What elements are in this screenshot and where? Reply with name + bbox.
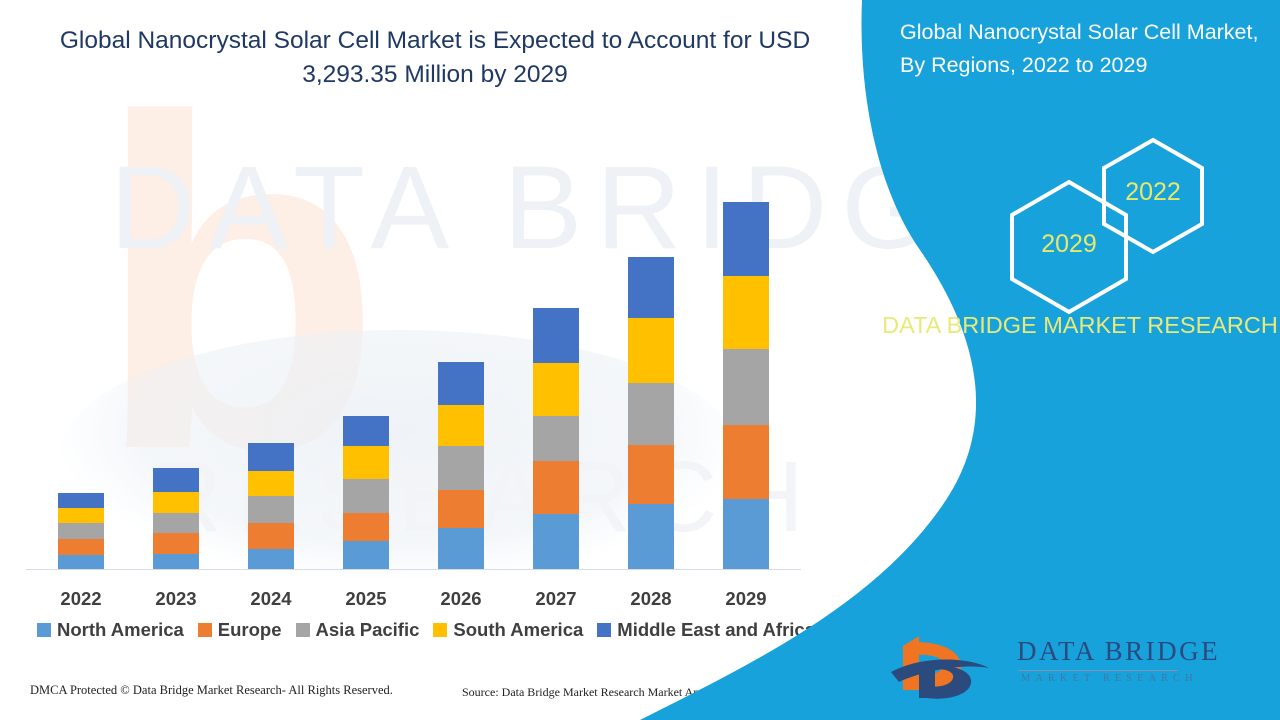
bar-segment-2023-middle-east-and-africa[interactable] (153, 468, 199, 492)
bar-segment-2028-south-america[interactable] (628, 318, 674, 383)
bar-segment-2027-asia-pacific[interactable] (533, 416, 579, 461)
bar-segment-2023-north-america[interactable] (153, 554, 199, 570)
bar-2029[interactable] (723, 202, 769, 570)
x-axis-label-2023: 2023 (131, 588, 221, 610)
footer-source-text: Source: Data Bridge Market Research Mark… (462, 685, 785, 700)
bar-segment-2029-europe[interactable] (723, 425, 769, 499)
chart-legend: North AmericaEuropeAsia PacificSouth Ame… (26, 617, 826, 643)
legend-item-europe[interactable]: Europe (198, 619, 282, 641)
plot-area (26, 150, 806, 570)
legend-label: North America (57, 619, 184, 641)
bar-segment-2026-middle-east-and-africa[interactable] (438, 362, 484, 405)
bar-segment-2028-middle-east-and-africa[interactable] (628, 257, 674, 318)
legend-swatch-icon (296, 623, 310, 637)
bar-segment-2025-europe[interactable] (343, 513, 389, 541)
bar-segment-2025-north-america[interactable] (343, 541, 389, 570)
bar-segment-2027-europe[interactable] (533, 461, 579, 514)
bar-segment-2022-asia-pacific[interactable] (58, 523, 104, 539)
bar-segment-2025-south-america[interactable] (343, 446, 389, 479)
bar-segment-2023-europe[interactable] (153, 533, 199, 554)
bar-segment-2028-europe[interactable] (628, 445, 674, 504)
bar-2022[interactable] (58, 493, 104, 570)
bar-2026[interactable] (438, 362, 484, 570)
side-panel-title: Global Nanocrystal Solar Cell Market, By… (900, 16, 1270, 82)
logo-divider (1018, 670, 1178, 671)
bar-segment-2024-middle-east-and-africa[interactable] (248, 443, 294, 471)
bar-segment-2028-asia-pacific[interactable] (628, 383, 674, 445)
legend-item-south-america[interactable]: South America (433, 619, 583, 641)
logo-tagline: MARKET RESEARCH (1021, 673, 1198, 684)
bar-segment-2022-middle-east-and-africa[interactable] (58, 493, 104, 508)
bar-segment-2024-south-america[interactable] (248, 471, 294, 496)
bar-segment-2024-europe[interactable] (248, 523, 294, 549)
bar-2025[interactable] (343, 416, 389, 570)
data-bridge-logo: DATA BRIDGE MARKET RESEARCH (885, 628, 1275, 706)
bar-segment-2026-asia-pacific[interactable] (438, 446, 484, 490)
legend-item-asia-pacific[interactable]: Asia Pacific (296, 619, 420, 641)
legend-label: Middle East and Africa (617, 619, 815, 641)
bar-2024[interactable] (248, 443, 294, 570)
brand-panel-content: Global Nanocrystal Solar Cell Market, By… (880, 0, 1280, 720)
x-axis-label-2025: 2025 (321, 588, 411, 610)
footer-dmca-text: DMCA Protected © Data Bridge Market Rese… (30, 683, 393, 698)
legend-swatch-icon (198, 623, 212, 637)
bar-segment-2029-north-america[interactable] (723, 499, 769, 570)
x-axis-label-2027: 2027 (511, 588, 601, 610)
bar-segment-2024-north-america[interactable] (248, 549, 294, 570)
x-axis-label-2028: 2028 (606, 588, 696, 610)
bar-segment-2025-middle-east-and-africa[interactable] (343, 416, 389, 446)
bar-segment-2029-asia-pacific[interactable] (723, 349, 769, 425)
bar-segment-2026-north-america[interactable] (438, 528, 484, 570)
brand-name: DATA BRIDGE MARKET RESEARCH (880, 308, 1280, 343)
bar-segment-2022-north-america[interactable] (58, 555, 104, 570)
hex-badge-2029-label: 2029 (1005, 230, 1133, 259)
x-axis-labels: 20222023202420252026202720282029 (26, 588, 806, 616)
legend-item-middle-east-and-africa[interactable]: Middle East and Africa (597, 619, 815, 641)
bar-segment-2025-asia-pacific[interactable] (343, 479, 389, 513)
legend-label: South America (453, 619, 583, 641)
x-axis-label-2026: 2026 (416, 588, 506, 610)
bar-segment-2023-south-america[interactable] (153, 492, 199, 513)
bar-segment-2024-asia-pacific[interactable] (248, 496, 294, 523)
bar-segment-2022-europe[interactable] (58, 539, 104, 555)
logo-mark-icon (885, 628, 1005, 700)
legend-label: Europe (218, 619, 282, 641)
bar-2028[interactable] (628, 257, 674, 570)
bar-segment-2023-asia-pacific[interactable] (153, 513, 199, 533)
bar-segment-2027-north-america[interactable] (533, 514, 579, 570)
bar-segment-2022-south-america[interactable] (58, 508, 104, 523)
bar-segment-2026-europe[interactable] (438, 490, 484, 528)
legend-swatch-icon (597, 623, 611, 637)
logo-wordmark: DATA BRIDGE (1017, 636, 1220, 667)
legend-swatch-icon (433, 623, 447, 637)
bar-segment-2026-south-america[interactable] (438, 405, 484, 446)
legend-swatch-icon (37, 623, 51, 637)
bar-2027[interactable] (533, 308, 579, 570)
bar-segment-2029-south-america[interactable] (723, 276, 769, 349)
legend-item-north-america[interactable]: North America (37, 619, 184, 641)
hex-badge-2029: 2029 (1005, 178, 1133, 316)
page-title: Global Nanocrystal Solar Cell Market is … (40, 24, 830, 92)
x-axis-label-2022: 2022 (36, 588, 126, 610)
bar-segment-2027-south-america[interactable] (533, 363, 579, 416)
bar-segment-2028-north-america[interactable] (628, 504, 674, 570)
x-axis-label-2024: 2024 (226, 588, 316, 610)
bar-segment-2029-middle-east-and-africa[interactable] (723, 202, 769, 276)
chart-panel: Global Nanocrystal Solar Cell Market is … (0, 0, 880, 720)
bar-2023[interactable] (153, 468, 199, 570)
axis-baseline (26, 569, 801, 570)
x-axis-label-2029: 2029 (701, 588, 791, 610)
legend-label: Asia Pacific (316, 619, 420, 641)
bar-segment-2027-middle-east-and-africa[interactable] (533, 308, 579, 363)
